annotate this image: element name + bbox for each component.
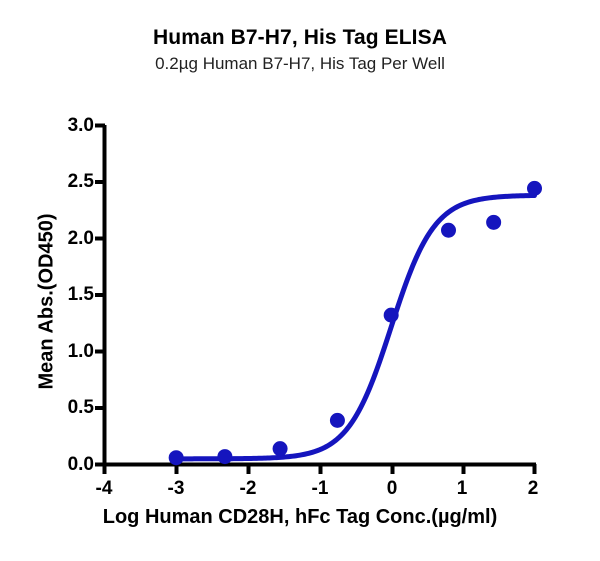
data-point — [441, 223, 456, 238]
data-point — [273, 441, 288, 456]
fit-curve — [176, 195, 534, 458]
plot-area — [0, 0, 600, 561]
elisa-chart-figure: Human B7-H7, His Tag ELISA 0.2µg Human B… — [0, 0, 600, 561]
data-point — [169, 450, 184, 465]
data-point — [486, 215, 501, 230]
data-point-group — [169, 181, 542, 465]
data-point — [217, 449, 232, 464]
data-point — [384, 308, 399, 323]
data-point — [330, 413, 345, 428]
data-point — [527, 181, 542, 196]
